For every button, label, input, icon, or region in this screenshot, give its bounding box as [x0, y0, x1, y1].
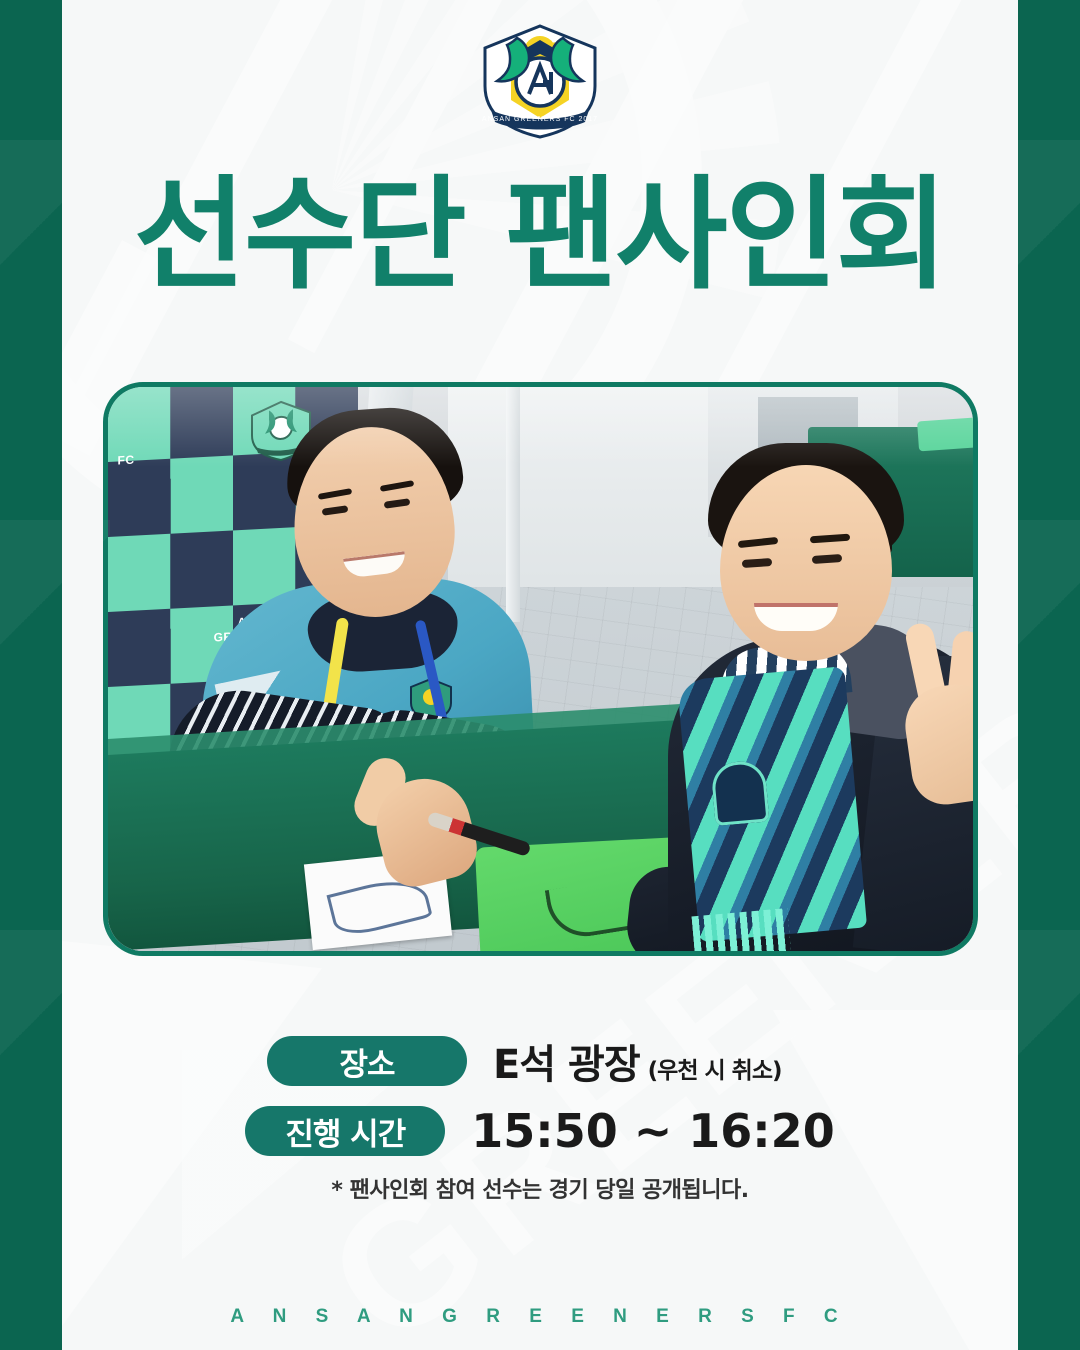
- event-photo: ANSAN GREENERS·FC FC: [103, 382, 978, 956]
- right-green-bar: [1018, 0, 1080, 1350]
- left-green-bar: [0, 0, 62, 1350]
- poster-root: GREENERS ANSAN GREENERS FC 2017 선수단 팬사인회: [0, 0, 1080, 1350]
- info-value-time: 15:50 ~ 16:20: [471, 1104, 834, 1158]
- crest-ribbon-text: ANSAN GREENERS FC 2017: [482, 116, 598, 123]
- info-value-location: E석 광장 (우천 시 취소): [493, 1032, 813, 1090]
- info-row: 장소 E석 광장 (우천 시 취소): [0, 1032, 1080, 1090]
- location-note: (우천 시 취소): [648, 1051, 782, 1085]
- page-title: 선수단 팬사인회: [0, 174, 1080, 296]
- time-text: 15:50 ~ 16:20: [471, 1104, 834, 1158]
- poster-content: ANSAN GREENERS FC 2017 선수단 팬사인회 ANSAN GR…: [0, 0, 1080, 1350]
- info-label-location: 장소: [267, 1036, 467, 1086]
- fan-scarf: [677, 666, 867, 942]
- footer-club-name: A N S A N G R E E N E R S F C: [0, 1306, 1080, 1328]
- photo-scene: ANSAN GREENERS·FC FC: [108, 387, 973, 951]
- event-info: 장소 E석 광장 (우천 시 취소) 진행 시간 15:50 ~ 16:20 *…: [0, 1032, 1080, 1204]
- info-label-time: 진행 시간: [245, 1106, 445, 1156]
- location-text: E석 광장: [493, 1032, 640, 1090]
- event-note: * 팬사인회 참여 선수는 경기 당일 공개됩니다.: [0, 1172, 1080, 1204]
- info-row: 진행 시간 15:50 ~ 16:20: [0, 1104, 1080, 1158]
- ansan-greeners-crest-icon: ANSAN GREENERS FC 2017: [477, 22, 603, 140]
